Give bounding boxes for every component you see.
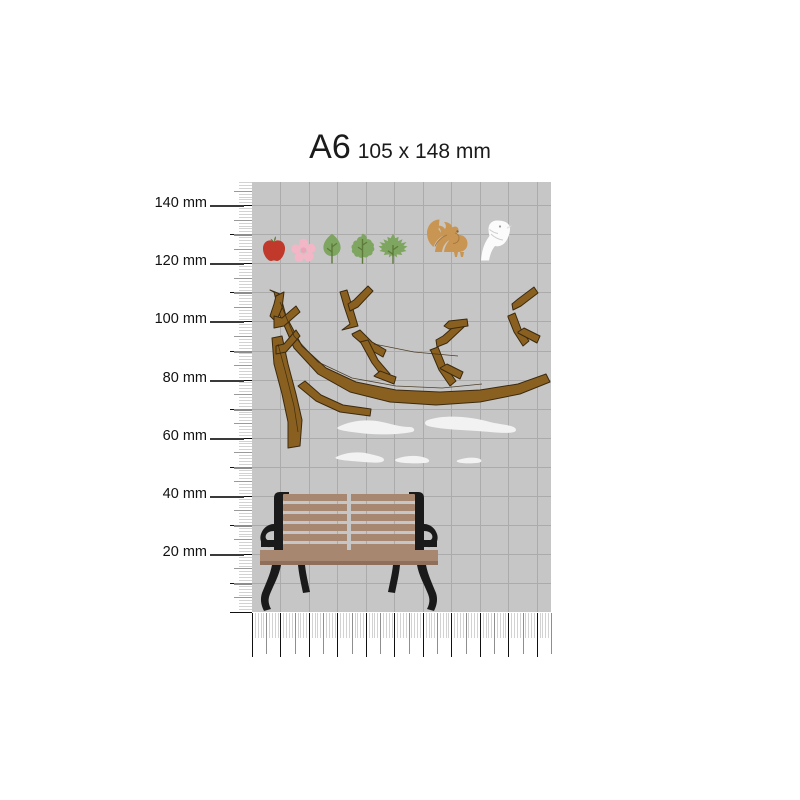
ruler-tick-vertical	[234, 510, 252, 511]
ruler-tick-horizontal	[280, 613, 281, 657]
ruler-tick-vertical	[239, 223, 252, 224]
ruler-tick-horizontal	[394, 613, 395, 657]
vertical-ruler-minor-leader	[234, 583, 252, 585]
ruler-tick-horizontal	[406, 613, 407, 638]
ruler-tick-horizontal	[486, 613, 487, 638]
vertical-ruler-minor-leader	[234, 409, 252, 411]
ruler-tick-vertical	[239, 342, 252, 343]
ruler-tick-vertical	[239, 475, 252, 476]
ruler-tick-horizontal	[443, 613, 444, 638]
park-bench-sprite[interactable]	[258, 484, 440, 612]
ruler-tick-vertical	[234, 568, 252, 569]
ruler-tick-vertical	[239, 560, 252, 561]
ruler-tick-horizontal	[483, 613, 484, 638]
ruler-tick-horizontal	[317, 613, 318, 638]
leaf-maple-sprite[interactable]	[378, 233, 408, 264]
ruler-tick-horizontal	[446, 613, 447, 638]
ruler-tick-vertical	[239, 295, 252, 296]
ruler-tick-horizontal	[326, 613, 327, 638]
ruler-tick-vertical	[234, 278, 252, 279]
ruler-tick-vertical	[239, 441, 252, 442]
ruler-tick-horizontal	[468, 613, 469, 638]
ruler-tick-vertical	[239, 368, 252, 369]
ruler-tick-horizontal	[414, 613, 415, 638]
ruler-tick-horizontal	[309, 613, 310, 657]
ruler-tick-vertical	[239, 226, 252, 227]
ruler-tick-vertical	[239, 586, 252, 587]
ruler-tick-vertical	[239, 499, 252, 500]
ruler-tick-horizontal	[409, 613, 410, 654]
ruler-tick-vertical	[234, 191, 252, 192]
ruler-tick-vertical	[239, 429, 252, 430]
ruler-tick-vertical	[239, 464, 252, 465]
ruler-tick-vertical	[239, 359, 252, 360]
ruler-tick-vertical	[239, 339, 252, 340]
ruler-tick-vertical	[239, 258, 252, 259]
ruler-tick-vertical	[239, 269, 252, 270]
ruler-tick-horizontal	[548, 613, 549, 638]
blossom-sprite[interactable]	[291, 238, 316, 262]
ruler-tick-vertical	[239, 385, 252, 386]
ruler-tick-horizontal	[397, 613, 398, 638]
ruler-tick-horizontal	[377, 613, 378, 638]
ruler-tick-vertical	[239, 458, 252, 459]
ruler-tick-vertical	[239, 208, 252, 209]
apple-sprite[interactable]	[262, 236, 286, 262]
ruler-tick-vertical	[239, 214, 252, 215]
ruler-tick-horizontal	[431, 613, 432, 638]
ruler-tick-vertical	[239, 443, 252, 444]
ruler-tick-vertical	[239, 304, 252, 305]
ruler-tick-vertical	[239, 420, 252, 421]
ruler-tick-horizontal	[488, 613, 489, 638]
paper-sheet[interactable]	[252, 182, 551, 612]
ruler-tick-horizontal	[261, 613, 262, 638]
page-title: A6105 x 148 mm	[0, 128, 800, 167]
ruler-tick-vertical	[239, 545, 252, 546]
ruler-tick-horizontal	[542, 613, 543, 638]
ruler-tick-horizontal	[540, 613, 541, 638]
ruler-tick-horizontal	[474, 613, 475, 638]
vertical-ruler-leader	[210, 380, 244, 382]
ruler-tick-horizontal	[523, 613, 524, 654]
ruler-tick-vertical	[239, 388, 252, 389]
ruler-tick-horizontal	[289, 613, 290, 638]
ruler-tick-horizontal	[477, 613, 478, 638]
ruler-tick-vertical	[239, 217, 252, 218]
ruler-tick-horizontal	[508, 613, 509, 657]
ruler-tick-vertical	[239, 417, 252, 418]
ruler-tick-vertical	[239, 377, 252, 378]
ruler-tick-vertical	[239, 362, 252, 363]
ruler-tick-vertical	[239, 595, 252, 596]
ruler-tick-vertical	[239, 432, 252, 433]
vertical-ruler-minor-leader	[234, 234, 252, 236]
ruler-tick-horizontal	[255, 613, 256, 638]
ruler-tick-horizontal	[315, 613, 316, 638]
ruler-tick-vertical	[239, 592, 252, 593]
vertical-ruler-label: 140 mm	[155, 195, 207, 211]
ruler-tick-horizontal	[263, 613, 264, 638]
ruler-tick-horizontal	[454, 613, 455, 638]
ruler-tick-vertical	[239, 240, 252, 241]
vertical-ruler-label: 20 mm	[163, 544, 207, 560]
ruler-tick-horizontal	[440, 613, 441, 638]
ruler-tick-vertical	[239, 548, 252, 549]
ruler-tick-vertical	[239, 513, 252, 514]
ruler-tick-vertical	[239, 188, 252, 189]
ruler-tick-horizontal	[500, 613, 501, 638]
vertical-ruler-leader	[210, 263, 244, 265]
ruler-tick-horizontal	[278, 613, 279, 638]
ruler-tick-vertical	[239, 446, 252, 447]
ruler-tick-horizontal	[460, 613, 461, 638]
vertical-ruler-leader	[210, 205, 244, 207]
ruler-tick-horizontal	[298, 613, 299, 638]
ruler-tick-horizontal	[266, 613, 267, 654]
ruler-tick-vertical	[239, 455, 252, 456]
ruler-tick-vertical	[239, 519, 252, 520]
ruler-tick-horizontal	[366, 613, 367, 657]
ruler-tick-vertical	[239, 353, 252, 354]
ruler-tick-vertical	[239, 487, 252, 488]
ruler-tick-vertical	[239, 534, 252, 535]
ruler-tick-vertical	[239, 356, 252, 357]
ruler-tick-vertical	[239, 542, 252, 543]
vertical-ruler-label: 40 mm	[163, 486, 207, 502]
ruler-tick-horizontal	[374, 613, 375, 638]
ruler-tick-vertical	[239, 522, 252, 523]
ruler-tick-horizontal	[360, 613, 361, 638]
ruler-tick-horizontal	[497, 613, 498, 638]
ruler-tick-vertical	[234, 307, 252, 308]
ruler-tick-horizontal	[514, 613, 515, 638]
ruler-tick-horizontal	[343, 613, 344, 638]
ruler-tick-vertical	[234, 394, 252, 395]
ruler-tick-vertical	[239, 316, 252, 317]
ruler-tick-vertical	[239, 473, 252, 474]
vertical-ruler-leader	[210, 496, 244, 498]
ruler-tick-vertical	[239, 574, 252, 575]
ruler-tick-vertical	[239, 252, 252, 253]
ruler-tick-horizontal	[451, 613, 452, 657]
ruler-tick-horizontal	[423, 613, 424, 657]
ruler-tick-horizontal	[531, 613, 532, 638]
ruler-tick-horizontal	[400, 613, 401, 638]
ruler-tick-vertical	[239, 237, 252, 238]
vertical-ruler-label: 120 mm	[155, 253, 207, 269]
ruler-tick-vertical	[239, 589, 252, 590]
ruler-tick-vertical	[239, 199, 252, 200]
ruler-tick-vertical	[239, 275, 252, 276]
ruler-tick-vertical	[239, 603, 252, 604]
leaf-simple-sprite[interactable]	[321, 233, 343, 264]
ruler-tick-horizontal	[300, 613, 301, 638]
ruler-tick-horizontal	[503, 613, 504, 638]
ruler-tick-horizontal	[363, 613, 364, 638]
vertical-ruler[interactable]	[230, 182, 252, 612]
ruler-tick-vertical	[239, 197, 252, 198]
ruler-tick-vertical	[239, 319, 252, 320]
ruler-tick-vertical	[239, 536, 252, 537]
ruler-tick-horizontal	[295, 613, 296, 654]
ruler-tick-horizontal	[372, 613, 373, 638]
ruler-tick-vertical	[239, 563, 252, 564]
ruler-tick-vertical	[234, 220, 252, 221]
ruler-tick-vertical	[239, 397, 252, 398]
ruler-tick-horizontal	[323, 613, 324, 654]
ruler-tick-horizontal	[417, 613, 418, 638]
ruler-tick-vertical	[239, 426, 252, 427]
vertical-ruler-minor-leader	[234, 292, 252, 294]
ruler-tick-vertical	[239, 182, 252, 183]
ruler-tick-horizontal	[349, 613, 350, 638]
ruler-tick-vertical	[239, 400, 252, 401]
ruler-tick-horizontal	[292, 613, 293, 638]
ruler-tick-horizontal	[306, 613, 307, 638]
ruler-tick-vertical	[239, 330, 252, 331]
ruler-tick-vertical	[239, 609, 252, 610]
ruler-tick-horizontal	[352, 613, 353, 654]
ruler-tick-vertical	[239, 287, 252, 288]
ruler-tick-vertical	[234, 539, 252, 540]
ruler-tick-vertical	[239, 255, 252, 256]
ruler-tick-horizontal	[380, 613, 381, 654]
ruler-tick-horizontal	[480, 613, 481, 657]
vertical-ruler-label: 100 mm	[155, 311, 207, 327]
ruler-tick-vertical	[234, 481, 252, 482]
paper-dimensions-label: 105 x 148 mm	[358, 140, 491, 163]
ruler-tick-horizontal	[448, 613, 449, 638]
vertical-ruler-leader	[210, 321, 244, 323]
ruler-tick-vertical	[239, 571, 252, 572]
ruler-tick-vertical	[239, 310, 252, 311]
ruler-tick-horizontal	[534, 613, 535, 638]
ruler-tick-vertical	[239, 266, 252, 267]
ruler-tick-horizontal	[275, 613, 276, 638]
ruler-tick-vertical	[239, 551, 252, 552]
ruler-tick-vertical	[239, 493, 252, 494]
ruler-tick-vertical	[239, 505, 252, 506]
ruler-tick-horizontal	[392, 613, 393, 638]
ruler-tick-horizontal	[252, 613, 253, 657]
ruler-tick-horizontal	[340, 613, 341, 638]
ruler-tick-horizontal	[494, 613, 495, 654]
ruler-tick-vertical	[239, 324, 252, 325]
ruler-tick-horizontal	[434, 613, 435, 638]
ruler-tick-horizontal	[411, 613, 412, 638]
ruler-tick-vertical	[239, 507, 252, 508]
vertical-ruler-label: 60 mm	[163, 428, 207, 444]
ruler-tick-horizontal	[383, 613, 384, 638]
ruler-tick-vertical	[239, 246, 252, 247]
ruler-tick-horizontal	[429, 613, 430, 638]
ruler-tick-vertical	[239, 301, 252, 302]
ruler-tick-horizontal	[357, 613, 358, 638]
ruler-tick-horizontal	[337, 613, 338, 657]
ruler-tick-vertical	[239, 313, 252, 314]
ruler-tick-horizontal	[466, 613, 467, 654]
ruler-tick-vertical	[234, 597, 252, 598]
ruler-tick-horizontal	[551, 613, 552, 654]
ruler-tick-vertical	[230, 612, 252, 613]
ruler-tick-vertical	[239, 202, 252, 203]
ruler-tick-horizontal	[525, 613, 526, 638]
ruler-tick-horizontal	[426, 613, 427, 638]
ruler-tick-vertical	[239, 580, 252, 581]
vertical-ruler-leader	[210, 554, 244, 556]
ruler-tick-horizontal	[303, 613, 304, 638]
ruler-tick-horizontal	[346, 613, 347, 638]
ruler-tick-horizontal	[283, 613, 284, 638]
ruler-tick-vertical	[239, 260, 252, 261]
grid-line-horizontal	[252, 205, 551, 206]
ruler-tick-vertical	[239, 284, 252, 285]
vertical-ruler-leader	[210, 438, 244, 440]
ruler-tick-vertical	[239, 243, 252, 244]
ruler-tick-vertical	[239, 412, 252, 413]
ruler-tick-horizontal	[272, 613, 273, 638]
ruler-tick-vertical	[239, 531, 252, 532]
ruler-tick-vertical	[239, 406, 252, 407]
ruler-tick-vertical	[239, 566, 252, 567]
ruler-tick-vertical	[234, 365, 252, 366]
ruler-tick-vertical	[239, 403, 252, 404]
ruler-tick-horizontal	[355, 613, 356, 638]
ruler-tick-vertical	[239, 600, 252, 601]
ruler-tick-horizontal	[332, 613, 333, 638]
ruler-tick-vertical	[239, 231, 252, 232]
ruler-tick-vertical	[239, 382, 252, 383]
vertical-ruler-label: 80 mm	[163, 370, 207, 386]
vertical-ruler-minor-leader	[234, 525, 252, 527]
ruler-tick-horizontal	[335, 613, 336, 638]
ruler-tick-vertical	[239, 502, 252, 503]
ruler-tick-horizontal	[329, 613, 330, 638]
ruler-tick-vertical	[239, 516, 252, 517]
ruler-tick-vertical	[239, 478, 252, 479]
leaf-oak-sprite[interactable]	[350, 233, 375, 264]
vertical-ruler-minor-leader	[234, 467, 252, 469]
ruler-tick-horizontal	[386, 613, 387, 638]
ruler-tick-vertical	[239, 557, 252, 558]
ruler-tick-vertical	[239, 194, 252, 195]
ruler-tick-vertical	[239, 290, 252, 291]
ruler-tick-horizontal	[258, 613, 259, 638]
ruler-tick-vertical	[239, 327, 252, 328]
ruler-tick-vertical	[239, 345, 252, 346]
ruler-tick-horizontal	[269, 613, 270, 638]
ruler-tick-vertical	[239, 298, 252, 299]
ruler-tick-vertical	[234, 452, 252, 453]
ruler-tick-vertical	[239, 449, 252, 450]
ruler-tick-horizontal	[457, 613, 458, 638]
ruler-tick-vertical	[239, 484, 252, 485]
ruler-tick-horizontal	[437, 613, 438, 654]
ruler-tick-vertical	[239, 414, 252, 415]
ruler-tick-horizontal	[517, 613, 518, 638]
ruler-tick-vertical	[234, 423, 252, 424]
ruler-tick-horizontal	[511, 613, 512, 638]
snow-streak-sprite	[334, 415, 519, 470]
ruler-tick-horizontal	[320, 613, 321, 638]
ruler-tick-vertical	[239, 391, 252, 392]
ruler-tick-vertical	[239, 490, 252, 491]
horizontal-ruler[interactable]	[252, 613, 552, 657]
bird-sprite[interactable]	[480, 219, 513, 262]
ruler-tick-vertical	[239, 211, 252, 212]
ruler-tick-horizontal	[389, 613, 390, 638]
ruler-tick-horizontal	[463, 613, 464, 638]
ruler-tick-horizontal	[312, 613, 313, 638]
ruler-tick-vertical	[239, 371, 252, 372]
ruler-tick-horizontal	[505, 613, 506, 638]
ruler-tick-horizontal	[545, 613, 546, 638]
ruler-tick-horizontal	[369, 613, 370, 638]
ruler-tick-horizontal	[491, 613, 492, 638]
ruler-tick-vertical	[239, 528, 252, 529]
ruler-tick-horizontal	[471, 613, 472, 638]
ruler-tick-vertical	[239, 435, 252, 436]
ruler-tick-vertical	[239, 470, 252, 471]
ruler-tick-horizontal	[537, 613, 538, 657]
ruler-tick-horizontal	[420, 613, 421, 638]
ruler-tick-vertical	[239, 281, 252, 282]
squirrel-sprite[interactable]	[424, 217, 469, 262]
ruler-tick-vertical	[239, 272, 252, 273]
ruler-tick-vertical	[239, 461, 252, 462]
ruler-tick-horizontal	[286, 613, 287, 638]
vertical-ruler-minor-leader	[234, 351, 252, 353]
ruler-tick-vertical	[239, 228, 252, 229]
ruler-tick-horizontal	[528, 613, 529, 638]
ruler-tick-vertical	[239, 185, 252, 186]
paper-format-name: A6	[309, 128, 351, 166]
ruler-tick-vertical	[239, 333, 252, 334]
ruler-tick-vertical	[234, 249, 252, 250]
ruler-tick-vertical	[239, 606, 252, 607]
ruler-tick-vertical	[239, 348, 252, 349]
ruler-tick-horizontal	[520, 613, 521, 638]
design-canvas-viewport: A6105 x 148 mm	[0, 0, 800, 800]
ruler-tick-vertical	[239, 374, 252, 375]
ruler-tick-vertical	[239, 577, 252, 578]
ruler-tick-vertical	[234, 336, 252, 337]
ruler-tick-horizontal	[403, 613, 404, 638]
